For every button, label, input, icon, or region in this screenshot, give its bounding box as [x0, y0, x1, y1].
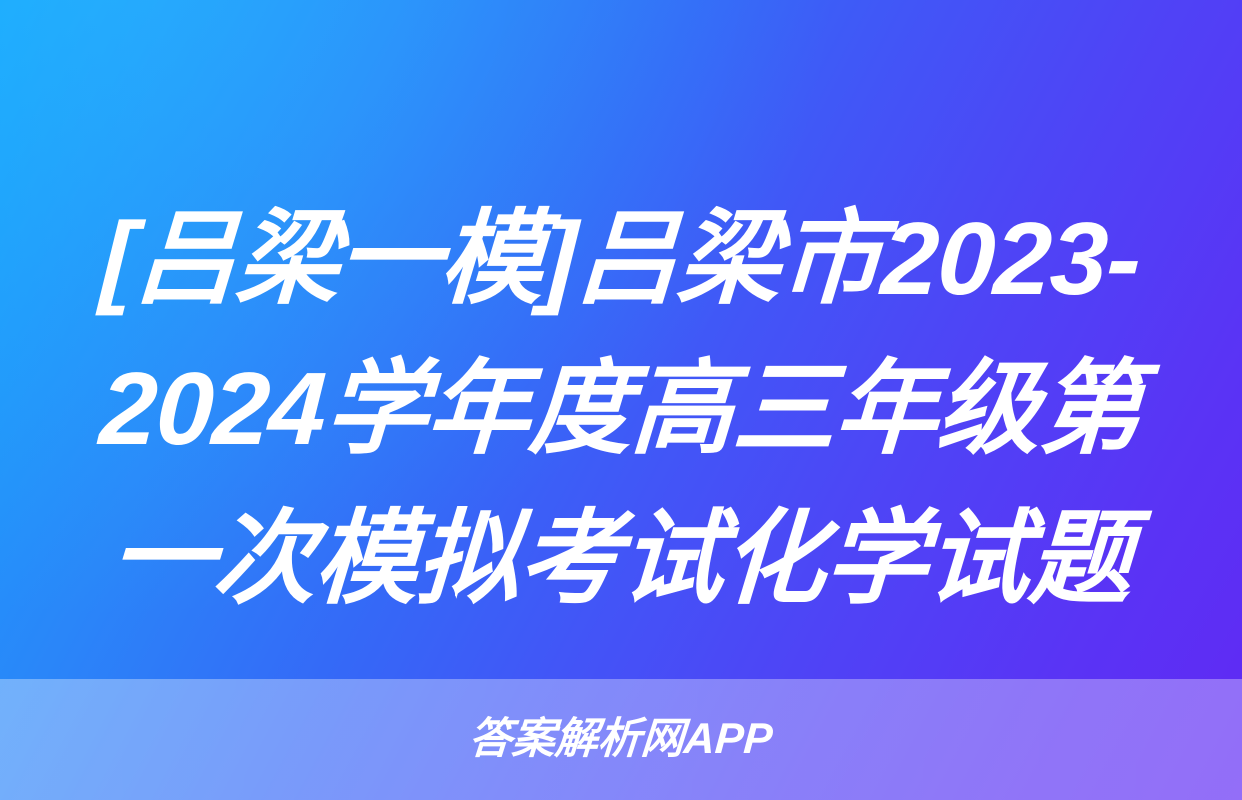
- app-watermark-label: 答案解析网APP: [468, 718, 774, 761]
- banner-card: [吕梁一模]吕梁市2023- 2024学年度高三年级第 一次模拟考试化学试题 答…: [0, 0, 1242, 800]
- footer-watermark-band: 答案解析网APP: [0, 679, 1242, 800]
- title-line-3: 一次模拟考试化学试题: [107, 484, 1135, 634]
- title-block: [吕梁一模]吕梁市2023- 2024学年度高三年级第 一次模拟考试化学试题: [0, 181, 1242, 636]
- title-line-1: [吕梁一模]吕梁市2023-: [98, 184, 1145, 334]
- title-line-2: 2024学年度高三年级第: [96, 334, 1145, 484]
